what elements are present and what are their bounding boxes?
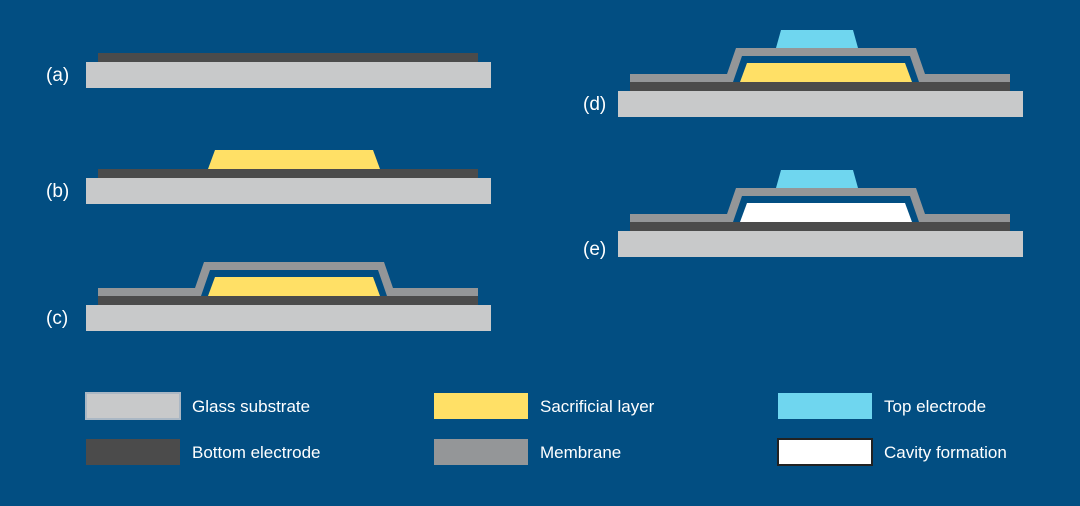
panel-c-label: (c) — [46, 308, 68, 329]
panel-e-cavity — [740, 203, 912, 222]
panel-b-label: (b) — [46, 181, 69, 202]
panel-a-label: (a) — [46, 65, 69, 86]
panel-e-label: (e) — [583, 239, 606, 260]
panel-d-label: (d) — [583, 94, 606, 115]
legend-label-cavity-formation: Cavity formation — [884, 443, 1007, 462]
panel-e-bottom-electrode — [630, 222, 1010, 231]
panel-c-bottom-electrode — [98, 296, 478, 305]
panel-e-top-electrode — [776, 170, 858, 188]
legend-swatch-cavity-formation — [778, 439, 872, 465]
panel-e-glass-substrate — [618, 231, 1023, 257]
figure-root: (a) (b) (c) (d) — [0, 0, 1080, 506]
panel-c-glass-substrate — [86, 305, 491, 331]
legend-swatch-membrane — [434, 439, 528, 465]
legend-swatch-top-electrode — [778, 393, 872, 419]
panel-d-glass-substrate — [618, 91, 1023, 117]
legend-label-top-electrode: Top electrode — [884, 397, 986, 416]
legend-label-glass-substrate: Glass substrate — [192, 397, 310, 416]
panel-b-bottom-electrode — [98, 169, 478, 178]
panel-d-sacrificial-layer — [740, 63, 912, 82]
legend-item-glass-substrate: Glass substrate — [86, 393, 310, 419]
panel-a-bottom-electrode — [98, 53, 478, 62]
panel-d-top-electrode — [776, 30, 858, 48]
legend-swatch-sacrificial-layer — [434, 393, 528, 419]
legend-item-bottom-electrode: Bottom electrode — [86, 439, 321, 465]
panel-a-glass-substrate — [86, 62, 491, 88]
legend-label-membrane: Membrane — [540, 443, 621, 462]
process-flow-diagram: (a) (b) (c) (d) — [0, 0, 1080, 506]
panel-d-bottom-electrode — [630, 82, 1010, 91]
panel-b-glass-substrate — [86, 178, 491, 204]
legend-item-cavity-formation: Cavity formation — [778, 439, 1007, 465]
legend-swatch-bottom-electrode — [86, 439, 180, 465]
legend-swatch-glass-substrate — [86, 393, 180, 419]
legend-label-sacrificial-layer: Sacrificial layer — [540, 397, 655, 416]
legend-label-bottom-electrode: Bottom electrode — [192, 443, 321, 462]
legend-item-membrane: Membrane — [434, 439, 621, 465]
panel-a: (a) — [46, 53, 491, 88]
legend-item-sacrificial-layer: Sacrificial layer — [434, 393, 655, 419]
panel-c-sacrificial-layer — [208, 277, 380, 296]
panel-b-sacrificial-layer — [208, 150, 380, 169]
